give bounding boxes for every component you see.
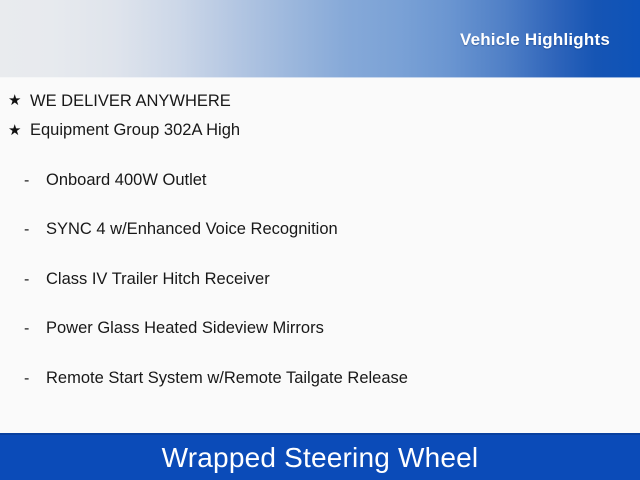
list-item-label: SYNC 4 w/Enhanced Voice Recognition [46,218,640,240]
vehicle-highlights-slide: Vehicle Highlights ★WE DELIVER ANYWHERE★… [0,0,640,480]
list-item-label: Onboard 400W Outlet [46,169,640,191]
highlights-list: ★WE DELIVER ANYWHERE★Equipment Group 302… [0,78,640,416]
dash-bullet-icon: - [24,368,46,390]
list-item: ★Equipment Group 302A High [0,119,640,169]
list-item: -SYNC 4 w/Enhanced Voice Recognition [0,218,640,268]
star-bullet-icon: ★ [8,90,30,112]
list-item-label: Class IV Trailer Hitch Receiver [46,268,640,290]
dash-bullet-icon: - [24,318,46,340]
list-item-label: WE DELIVER ANYWHERE [30,90,640,112]
highlights-body: ★WE DELIVER ANYWHERE★Equipment Group 302… [0,78,640,433]
page-title: Vehicle Highlights [460,30,610,50]
list-item: -Class IV Trailer Hitch Receiver [0,268,640,318]
footer-bar: Wrapped Steering Wheel [0,433,640,480]
footer-title: Wrapped Steering Wheel [162,442,479,474]
list-item-label: Power Glass Heated Sideview Mirrors [46,317,640,339]
dash-bullet-icon: - [24,219,46,241]
dash-bullet-icon: - [24,170,46,192]
list-item-label: Equipment Group 302A High [30,119,640,141]
star-bullet-icon: ★ [8,120,30,142]
dash-bullet-icon: - [24,269,46,291]
list-item: -Remote Start System w/Remote Tailgate R… [0,367,640,417]
list-item: ★WE DELIVER ANYWHERE [0,78,640,119]
list-item: -Onboard 400W Outlet [0,169,640,219]
list-item-label: Remote Start System w/Remote Tailgate Re… [46,367,640,389]
header-band: Vehicle Highlights [0,0,640,78]
list-item: -Power Glass Heated Sideview Mirrors [0,317,640,367]
